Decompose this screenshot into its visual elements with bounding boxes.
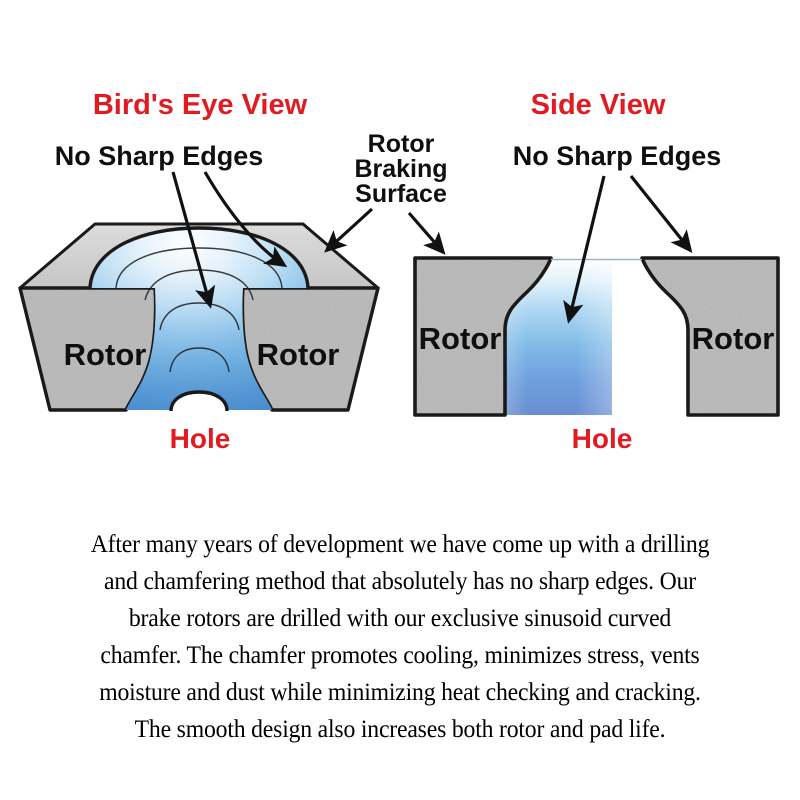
rotor-braking-surface-label: Rotor Braking Surface: [354, 130, 447, 208]
rotor-braking-surface-arrow-left: [327, 209, 372, 250]
side-view-no-sharp-edges-label: No Sharp Edges: [513, 141, 722, 171]
birds-eye-rotor-right-label: Rotor: [257, 337, 340, 372]
side-view-hole-label: Hole: [572, 423, 633, 454]
side-view-diagram: Rotor Rotor: [409, 176, 778, 415]
caption-text: After many years of development we have …: [28, 525, 772, 747]
svg-text:Braking: Braking: [354, 155, 447, 183]
birds-eye-hole-label: Hole: [170, 423, 231, 454]
svg-text:Surface: Surface: [355, 180, 447, 208]
side-view-rotor-left-label: Rotor: [419, 321, 502, 356]
caption-block: After many years of development we have …: [0, 525, 800, 747]
birds-eye-diagram: Rotor Rotor: [20, 172, 378, 411]
side-view-rotor-right-label: Rotor: [692, 321, 775, 356]
birds-eye-rotor-left-label: Rotor: [64, 337, 147, 372]
diagram-page: Rotor Rotor: [0, 0, 800, 800]
side-view-title: Side View: [531, 89, 666, 121]
birds-eye-title: Bird's Eye View: [93, 89, 308, 121]
birds-eye-no-sharp-edges-label: No Sharp Edges: [55, 141, 264, 171]
svg-text:Rotor: Rotor: [368, 130, 435, 158]
rotor-braking-surface-arrow-right: [409, 213, 443, 252]
